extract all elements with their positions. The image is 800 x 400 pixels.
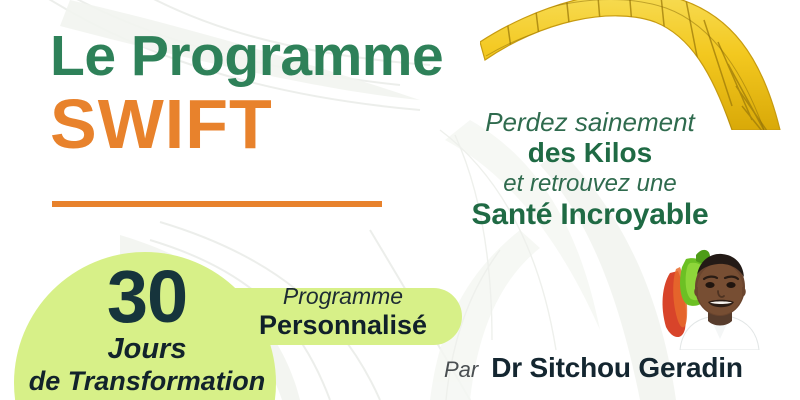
measuring-tape-icon: 92 94 96 98 00 02 04 06 08	[480, 0, 800, 124]
program-pill-text: Programme Personnalisé	[232, 284, 454, 340]
title-underline-rule	[52, 201, 382, 207]
claim-line-2: des Kilos	[440, 137, 740, 169]
svg-text:96: 96	[570, 26, 582, 38]
vegetables-icon	[663, 250, 712, 337]
claim-line-1: Perdez sainement	[440, 108, 740, 137]
program-pill-top-label: Programme	[232, 284, 454, 310]
svg-text:00: 00	[638, 28, 649, 39]
days-subtitle: de Transformation	[22, 367, 272, 397]
doctor-portrait-image	[652, 245, 764, 350]
svg-text:06: 06	[698, 90, 712, 104]
doctor-figure	[680, 254, 759, 350]
byline: Par Dr Sitchou Geradin	[444, 352, 743, 384]
claim-block: Perdez sainement des Kilos et retrouvez …	[440, 108, 740, 233]
svg-text:94: 94	[535, 33, 548, 46]
svg-text:04: 04	[684, 67, 698, 81]
svg-text:98: 98	[605, 23, 616, 34]
svg-text:02: 02	[667, 43, 680, 56]
claim-line-4: Santé Incroyable	[440, 198, 740, 233]
byline-author-name: Dr Sitchou Geradin	[491, 352, 743, 384]
claim-line-3: et retrouvez une	[440, 170, 740, 198]
promotional-banner: 92 94 96 98 00 02 04 06 08 Le Programme …	[0, 0, 800, 400]
program-pill-bottom-label: Personnalisé	[232, 310, 454, 340]
title-line-1: Le Programme	[50, 28, 520, 85]
byline-prefix: Par	[444, 357, 478, 383]
